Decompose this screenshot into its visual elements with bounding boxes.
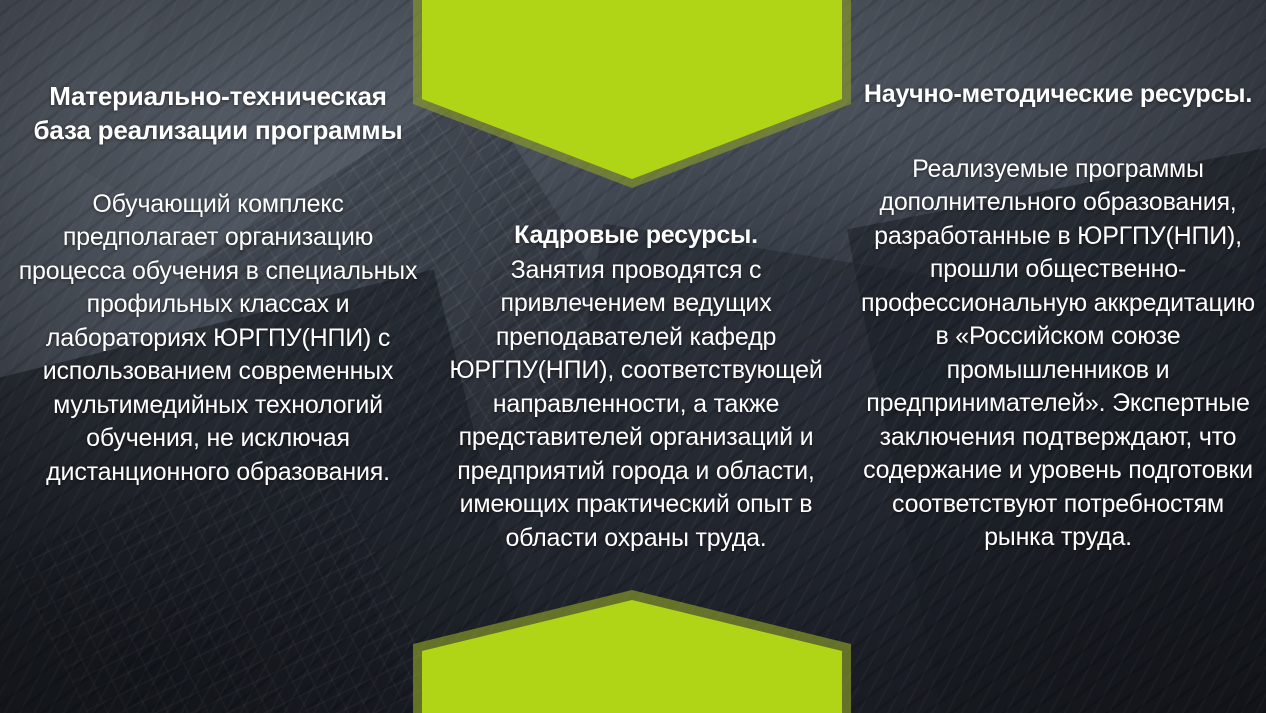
column-left-heading: Материально-техническая база реализации …	[18, 80, 418, 148]
column-center-body: Занятия проводятся с привлечением ведущи…	[430, 254, 842, 556]
column-left-body: Обучающий комплекс предполагает организа…	[18, 188, 418, 490]
column-right-body: Реализуемые программы дополнительного об…	[858, 153, 1258, 555]
column-center-heading: Кадровые ресурсы.	[430, 219, 842, 252]
column-center: Кадровые ресурсы. Занятия проводятся с п…	[430, 219, 842, 555]
column-right-heading: Научно-методические ресурсы.	[858, 78, 1258, 111]
column-left: Материально-техническая база реализации …	[18, 80, 418, 489]
bottom-chevron-shape	[404, 588, 860, 713]
presentation-slide: Материально-техническая база реализации …	[0, 0, 1266, 713]
bottom-green-chevron	[404, 588, 860, 713]
column-right: Научно-методические ресурсы. Реализуемые…	[858, 78, 1258, 555]
top-green-chevron	[404, 0, 860, 194]
top-chevron-shape	[404, 0, 860, 194]
